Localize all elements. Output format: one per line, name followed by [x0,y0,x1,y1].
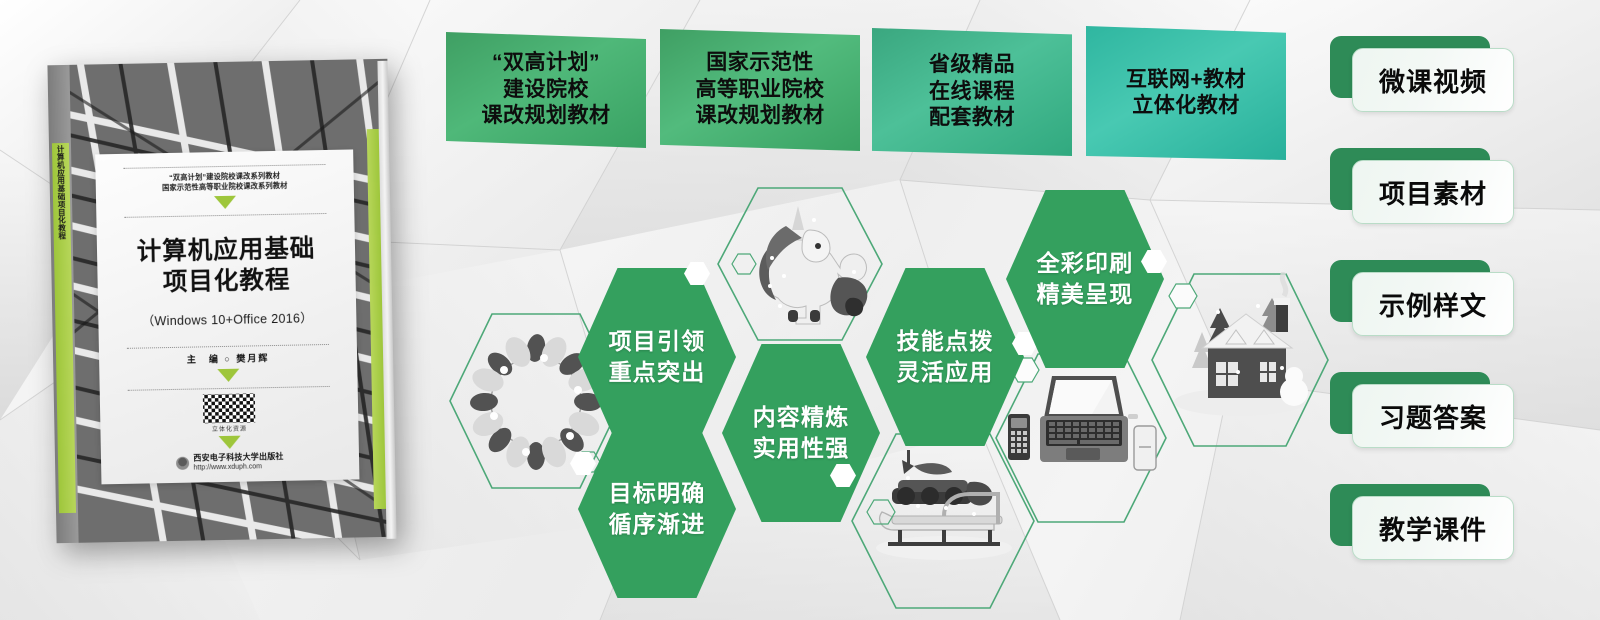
cover-divider-author-bottom [127,386,329,391]
hex-line: 项目引领 [609,326,706,357]
banner-line: 在线课程 [929,79,1015,106]
banner-shengji-jingpin[interactable]: 省级精品 在线课程 配套教材 [872,28,1072,156]
qr-code [203,393,256,423]
hex-line: 实用性强 [753,433,850,464]
banner-line: 互联网+教材 [1126,67,1246,94]
chevron-down-icon-2 [217,369,239,382]
qr-caption: 立体化资源 [212,424,247,434]
promo-banner-stage: 计算机应用基础项目化教程 “双高计划”建设院校课改系列教材 国家示范性高等职业院… [0,0,1600,620]
sidebar-card-face[interactable]: 微课视频 [1352,48,1514,112]
banner-line: 课改规划教材 [696,103,825,130]
hex-line: 灵活应用 [897,357,994,388]
sidebar-item-shili-yangwen[interactable]: 示例样文 [1330,260,1512,334]
cover-divider-top [123,164,325,169]
banner-line: 立体化教材 [1132,93,1240,120]
chevron-down-icon [214,196,236,209]
cover-series-line-2: 国家示范性高等职业院校课改系列教材 [162,181,288,193]
sidebar-item-label: 教学课件 [1379,510,1487,547]
sidebar-item-xiangmu-sucai[interactable]: 项目素材 [1330,148,1512,222]
banner-line: 配套教材 [929,105,1015,132]
banner-shuanggao[interactable]: “双高计划” 建设院校 课改规划教材 [446,32,646,148]
banner-line: “双高计划” [492,50,600,77]
cover-title-line-2: 项目化教程 [163,265,291,298]
hex-line: 重点突出 [609,357,706,388]
banner-guojia-shifan[interactable]: 国家示范性 高等职业院校 课改规划教材 [660,29,860,151]
sidebar-item-xiti-daan[interactable]: 习题答案 [1330,372,1512,446]
cover-title-line-1: 计算机应用基础 [136,233,315,267]
publisher-url: http://www.xduph.com [194,462,284,473]
banner-line: 省级精品 [929,52,1015,79]
sidebar-card-face[interactable]: 示例样文 [1352,272,1514,336]
illustration-unicorn [714,186,886,342]
banner-line: 国家示范性 [706,50,814,77]
publisher-logo-icon [176,457,189,470]
cover-subtitle: （Windows 10+Office 2016） [142,307,314,329]
hex-line: 内容精炼 [753,402,850,433]
book-cover-panel: “双高计划”建设院校课改系列教材 国家示范性高等职业院校课改系列教材 计算机应用… [95,149,359,484]
illustration-winter-house [1148,272,1332,448]
chevron-down-icon-3 [219,436,241,449]
sidebar-card-face[interactable]: 项目素材 [1352,160,1514,224]
banner-hulianwang[interactable]: 互联网+教材 立体化教材 [1086,26,1286,160]
hex-line: 全彩印刷 [1037,248,1134,279]
banner-line: 高等职业院校 [696,77,825,104]
hex-line: 目标明确 [609,478,706,509]
sidebar-item-label: 示例样文 [1379,286,1487,323]
sidebar-item-label: 项目素材 [1379,174,1487,211]
sidebar-item-jiaoxue-kejian[interactable]: 教学课件 [1330,484,1512,558]
banner-line: 建设院校 [503,77,589,104]
sidebar-item-label: 微课视频 [1379,62,1487,99]
book-cover: 计算机应用基础项目化教程 “双高计划”建设院校课改系列教材 国家示范性高等职业院… [47,59,396,543]
illustration-sled [848,432,1038,610]
hex-line: 技能点拨 [897,326,994,357]
sidebar-item-label: 习题答案 [1379,398,1487,435]
hex-line: 循序渐进 [609,509,706,540]
cover-author: 主 编 ○ 樊月辉 [187,351,270,366]
sidebar-card-face[interactable]: 教学课件 [1352,496,1514,560]
publisher-block: 西安电子科技大学出版社 http://www.xduph.com [176,452,284,473]
sidebar-card-face[interactable]: 习题答案 [1352,384,1514,448]
banner-line: 课改规划教材 [482,103,611,130]
sidebar-item-weike-shipin[interactable]: 微课视频 [1330,36,1512,110]
hex-line: 精美呈现 [1037,279,1134,310]
cover-divider-author-top [127,344,329,349]
cover-divider-mid [124,213,326,218]
